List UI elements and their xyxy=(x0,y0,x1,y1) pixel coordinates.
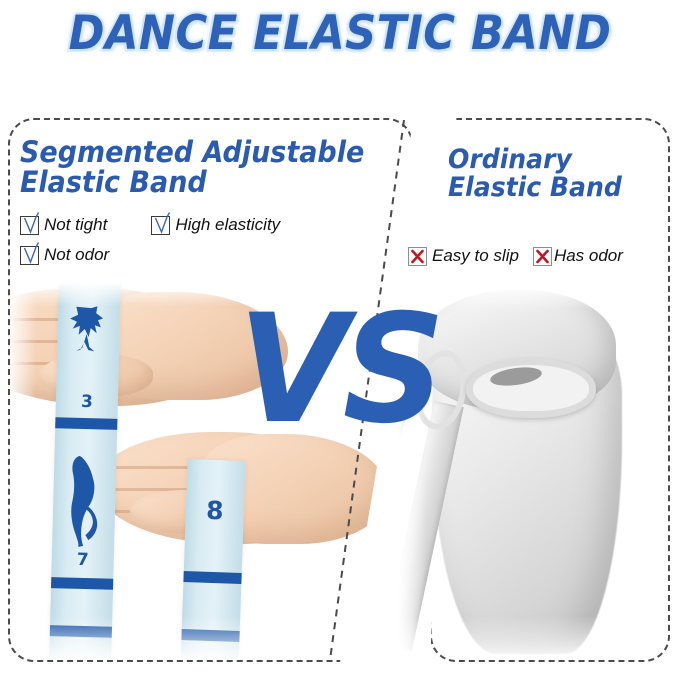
title-bar: DANCE ELASTIC BAND xyxy=(0,0,679,100)
page-title: DANCE ELASTIC BAND xyxy=(68,6,611,61)
vs-label: VS xyxy=(238,295,440,445)
cross-box-icon xyxy=(408,247,427,266)
product-comparison-image: DANCE ELASTIC BAND 3 xyxy=(0,0,679,676)
right-comparison-panel xyxy=(430,118,670,662)
